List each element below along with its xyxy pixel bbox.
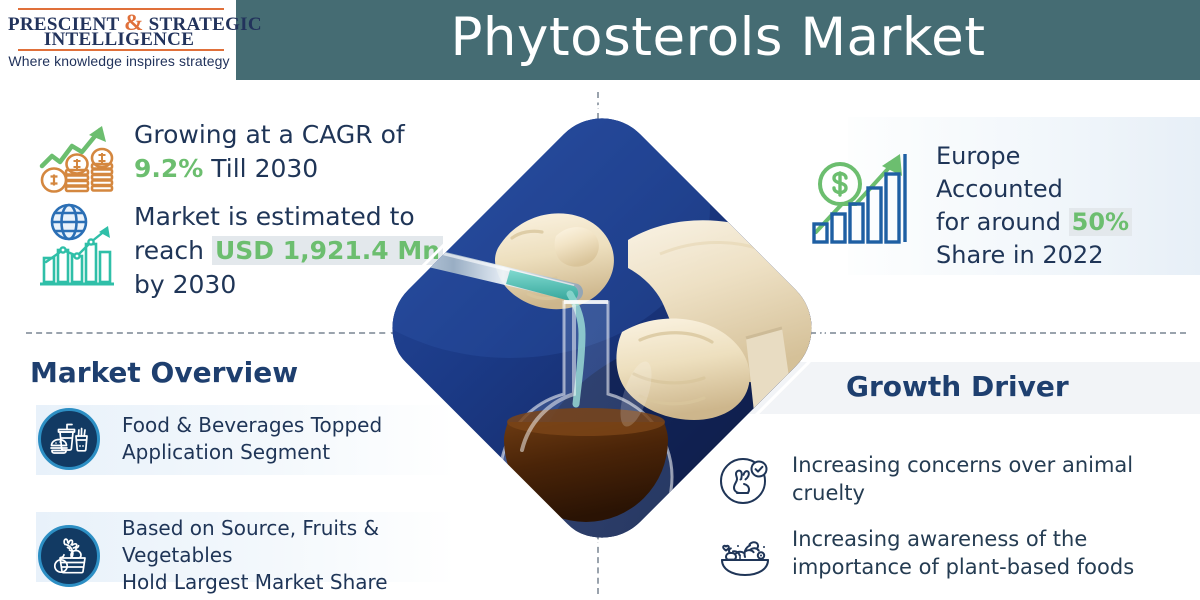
- logo-line-intelligence: INTELLIGENCE: [8, 29, 230, 51]
- market-overview-heading: Market Overview: [30, 356, 298, 389]
- stat-cagr-text: Growing at a CAGR of 9.2% Till 2030: [134, 118, 405, 186]
- stat-europe-line1: Europe: [936, 142, 1020, 170]
- stat-europe-line3-pre: for around: [936, 208, 1069, 236]
- coins-growth-arrow-icon: [36, 118, 116, 194]
- stat-cagr: Growing at a CAGR of 9.2% Till 2030: [36, 118, 456, 194]
- fast-food-icon: [38, 408, 100, 470]
- overview-item-1-label: Food & Beverages Topped Application Segm…: [122, 412, 382, 466]
- stat-europe-value: 50%: [1069, 208, 1132, 236]
- stat-market-line3: by 2030: [134, 270, 236, 299]
- vegetable-basket-icon: [38, 525, 100, 587]
- stat-cagr-value: 9.2%: [134, 154, 203, 183]
- overview-item-1-line2: Application Segment: [122, 440, 330, 464]
- stat-cagr-line1: Growing at a CAGR of: [134, 120, 405, 149]
- diamond-ring-shape: [363, 81, 849, 567]
- stat-cagr-line2: Till 2030: [203, 154, 318, 183]
- growth-driver-heading: Growth Driver: [846, 370, 1069, 403]
- company-logo: PRESCIENT & STRATEGIC INTELLIGENCE Where…: [8, 6, 230, 72]
- growth-driver-item-2-line2: importance of plant-based foods: [792, 555, 1134, 579]
- logo-tagline: Where knowledge inspires strategy: [8, 53, 230, 69]
- stat-europe-line4: Share in 2022: [936, 241, 1103, 269]
- stat-europe-share: Europe Accounted for around 50% Share in…: [812, 140, 1200, 272]
- globe-bar-chart-icon: [36, 200, 116, 292]
- overview-item-2-line2: Hold Largest Market Share: [122, 570, 388, 594]
- overview-item-2-line1: Based on Source, Fruits & Vegetables: [122, 516, 379, 567]
- page-title: Phytosterols Market: [236, 0, 1200, 80]
- stat-europe-text: Europe Accounted for around 50% Share in…: [936, 140, 1132, 272]
- lab-flask-photo-diamond: [394, 120, 810, 536]
- growth-driver-item-2-line1: Increasing awareness of the: [792, 527, 1087, 551]
- dollar-bar-growth-icon: [812, 140, 922, 248]
- growth-driver-item-2-label: Increasing awareness of the importance o…: [792, 525, 1134, 581]
- logo-rule-bottom: [18, 49, 224, 51]
- stat-europe-line2: Accounted: [936, 175, 1063, 203]
- overview-item-1-line1: Food & Beverages Topped: [122, 413, 382, 437]
- stat-market-line1: Market is estimated to: [134, 202, 415, 231]
- growth-driver-item-1-label: Increasing concerns over animal cruelty: [792, 451, 1133, 507]
- stat-market-line2-pre: reach: [134, 236, 212, 265]
- growth-driver-item-1-line1: Increasing concerns over animal: [792, 453, 1133, 477]
